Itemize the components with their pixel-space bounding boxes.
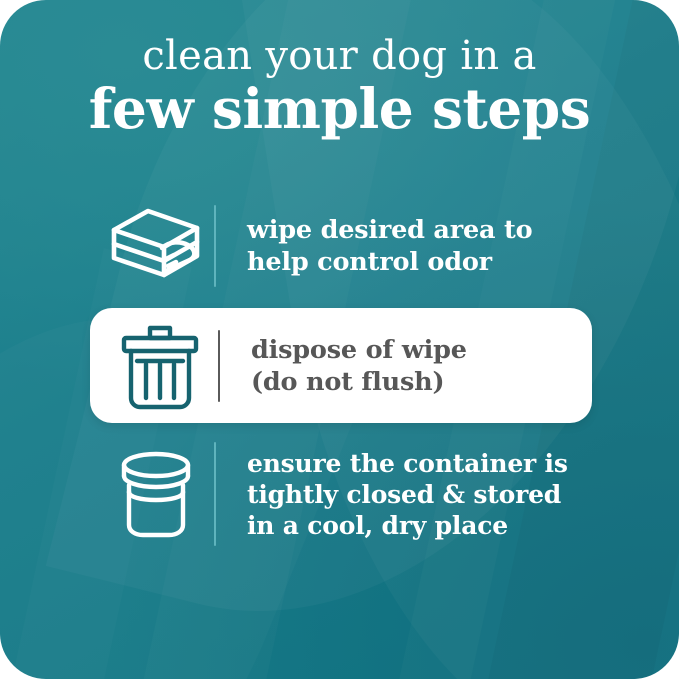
wipes-stack-icon bbox=[100, 200, 212, 292]
list-item-highlighted: dispose of wipe (do not flush) bbox=[90, 308, 592, 423]
step-text-line: help control odor bbox=[247, 246, 532, 278]
step-text-line: wipe desired area to bbox=[247, 214, 532, 246]
step-text: ensure the container is tightly closed &… bbox=[216, 448, 568, 541]
step-text-line: in a cool, dry place bbox=[247, 510, 568, 541]
page-title: clean your dog in a few simple steps bbox=[0, 33, 679, 138]
list-item: wipe desired area to help control odor bbox=[0, 190, 679, 302]
step-text-line: (do not flush) bbox=[251, 366, 467, 398]
step-text-line: ensure the container is bbox=[247, 448, 568, 479]
promo-graphic-root: clean your dog in a few simple steps bbox=[0, 0, 679, 679]
trash-can-icon bbox=[104, 320, 216, 412]
steps-list: wipe desired area to help control odor bbox=[0, 190, 679, 559]
list-item: ensure the container is tightly closed &… bbox=[0, 429, 679, 559]
page-title-line-1: clean your dog in a bbox=[0, 33, 679, 79]
step-text: dispose of wipe (do not flush) bbox=[220, 334, 467, 398]
step-text-line: dispose of wipe bbox=[251, 334, 467, 366]
step-text-line: tightly closed & stored bbox=[247, 479, 568, 510]
step-text: wipe desired area to help control odor bbox=[216, 214, 532, 278]
page-title-line-2: few simple steps bbox=[0, 80, 679, 138]
container-tub-icon bbox=[100, 447, 212, 541]
